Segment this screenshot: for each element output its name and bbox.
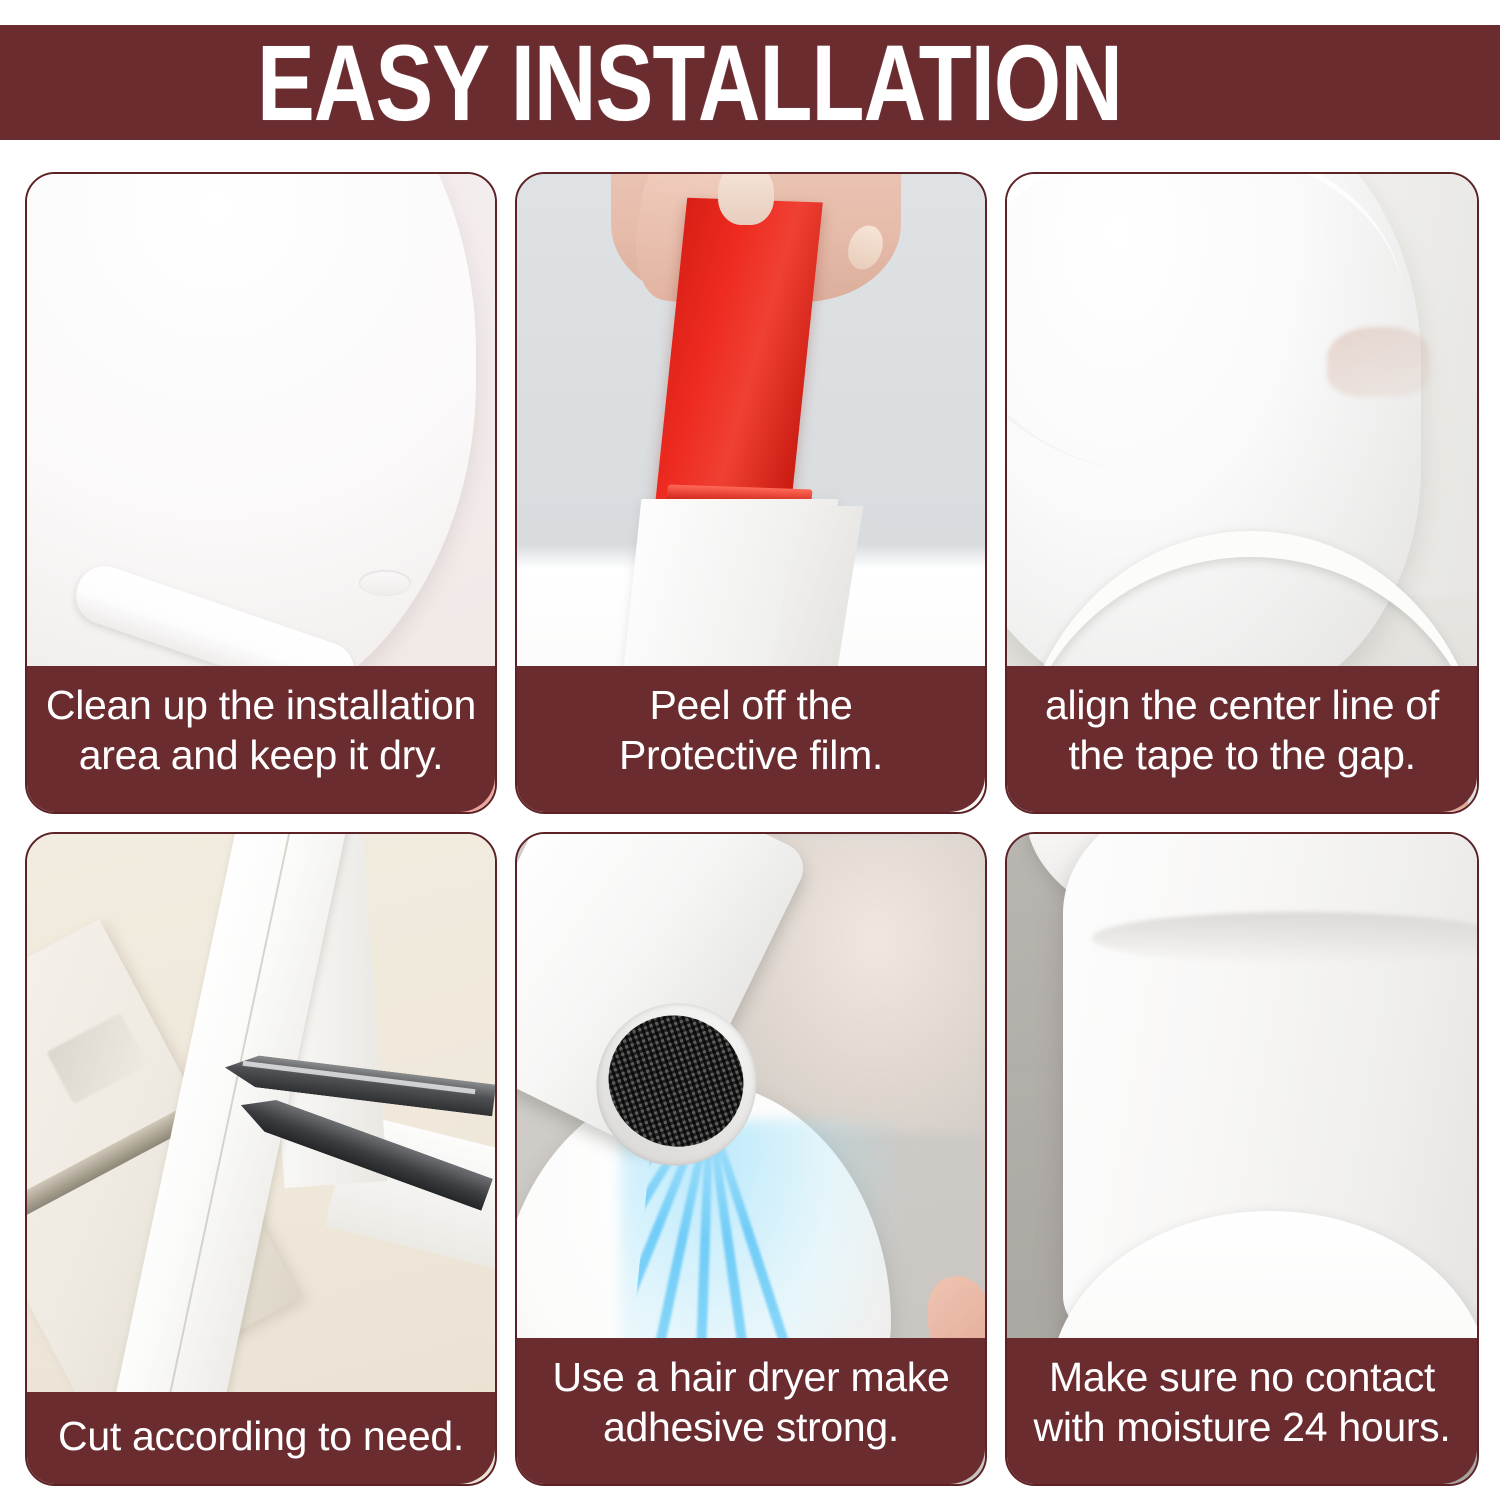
step-panel-5: Use a hair dryer make adhesive strong.	[515, 832, 987, 1486]
toilet-bolt-cap	[359, 570, 411, 596]
step-5-caption: Use a hair dryer make adhesive strong.	[517, 1338, 985, 1484]
step-panel-4: Cut according to need.	[25, 832, 497, 1486]
step-1-caption: Clean up the installation area and keep …	[27, 666, 495, 812]
step-1-caption-line-1: Clean up the installation	[45, 680, 477, 730]
steps-grid: Clean up the installation area and keep …	[25, 172, 1475, 1482]
step-panel-3: align the center line of the tape to the…	[1005, 172, 1479, 814]
step-2-caption-line-2: Protective film.	[535, 730, 967, 780]
step-panel-1: Clean up the installation area and keep …	[25, 172, 497, 814]
step-4-caption: Cut according to need.	[27, 1392, 495, 1484]
page-title: EASY INSTALLATION	[258, 29, 1123, 137]
step-4-caption-line-1: Cut according to need.	[58, 1411, 464, 1461]
header-banner: EASY INSTALLATION	[0, 25, 1500, 140]
step-3-caption-line-2: the tape to the gap.	[1025, 730, 1459, 780]
step-2-caption: Peel off the Protective film.	[517, 666, 985, 812]
step-5-caption-line-1: Use a hair dryer make	[535, 1352, 967, 1402]
step-panel-6: Make sure no contact with moisture 24 ho…	[1005, 832, 1479, 1486]
thumbnail-shape	[718, 174, 774, 225]
step-panel-2: Peel off the Protective film.	[515, 172, 987, 814]
step-3-caption-line-1: align the center line of	[1025, 680, 1459, 730]
step-2-caption-line-1: Peel off the	[535, 680, 967, 730]
step-1-caption-line-2: area and keep it dry.	[45, 730, 477, 780]
step-5-caption-line-2: adhesive strong.	[535, 1402, 967, 1452]
step-6-caption-line-2: with moisture 24 hours.	[1025, 1402, 1459, 1452]
infographic-page: EASY INSTALLATION Clean up the installat…	[0, 0, 1500, 1500]
step-6-caption: Make sure no contact with moisture 24 ho…	[1007, 1338, 1477, 1484]
step-3-caption: align the center line of the tape to the…	[1007, 666, 1477, 812]
hand-reflection	[1327, 327, 1430, 397]
step-4-photo	[27, 834, 495, 1484]
step-6-caption-line-1: Make sure no contact	[1025, 1352, 1459, 1402]
